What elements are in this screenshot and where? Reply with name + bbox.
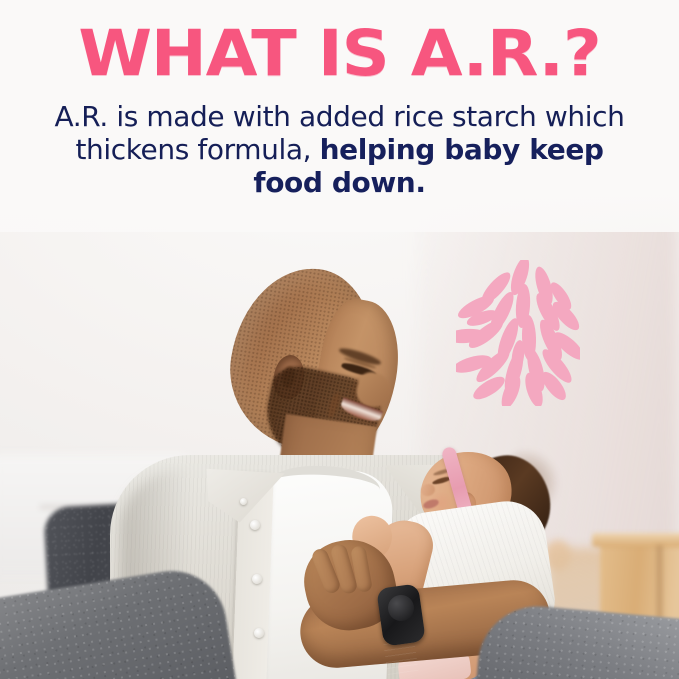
- page-title: WHAT IS A.R.?: [0, 22, 679, 86]
- father-shirt-button-1: [250, 520, 260, 530]
- text-overlay: WHAT IS A.R.? A.R. is made with added ri…: [0, 0, 679, 232]
- father-collar-button: [240, 498, 247, 505]
- subtitle-paragraph: A.R. is made with added rice starch whic…: [0, 100, 679, 199]
- father-shirt-button-3: [254, 628, 264, 638]
- poster-canvas: WHAT IS A.R.? A.R. is made with added ri…: [0, 0, 679, 679]
- father-shirt-button-2: [252, 574, 262, 584]
- wooden-cabinet-top: [592, 533, 679, 547]
- rice-grains-icon: [456, 260, 580, 406]
- sofa-left-arm-texture: [0, 563, 239, 679]
